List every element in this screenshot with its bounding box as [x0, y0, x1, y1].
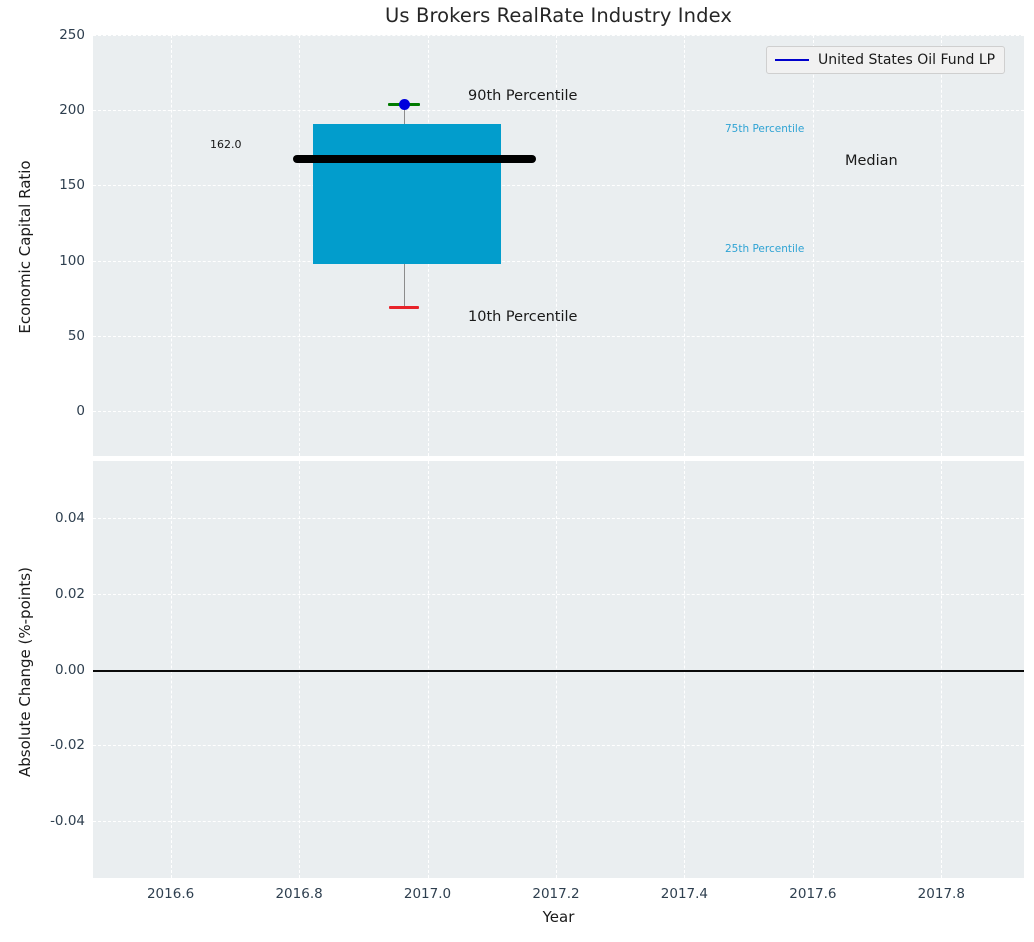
y-tick-labels: 250 200 150 100 50 0 0.04 0.02 0.00 -0.0…: [0, 0, 85, 942]
median-line: [293, 155, 536, 163]
xtick-2017.6: 2017.6: [789, 886, 836, 902]
cap-10th-percentile: [389, 306, 419, 309]
legend-label-0: United States Oil Fund LP: [818, 52, 995, 68]
chart-title: Us Brokers RealRate Industry Index: [93, 4, 1024, 27]
axes-economic-capital-ratio: 162.0 90th Percentile 75th Percentile Me…: [93, 35, 1024, 456]
gridline-y-150: [93, 185, 1024, 186]
figure: Us Brokers RealRate Industry Index 162.0: [0, 0, 1034, 942]
axes-absolute-change: [93, 461, 1024, 878]
gridline-y-100: [93, 261, 1024, 262]
gridline-x-2017.8: [941, 35, 942, 456]
xtick-2017.2: 2017.2: [532, 886, 579, 902]
gridline-x-2016.8: [299, 35, 300, 456]
x-axis-label: Year: [93, 908, 1024, 926]
gridline-y-50: [93, 336, 1024, 337]
annotation-90th-percentile: 90th Percentile: [468, 88, 577, 104]
zero-reference-line: [93, 670, 1024, 672]
gridline-y-250: [93, 35, 1024, 36]
xtick-2017.8: 2017.8: [918, 886, 965, 902]
legend-line-icon: [775, 59, 809, 61]
gridline-y-0: [93, 411, 1024, 412]
annotation-median: Median: [845, 153, 898, 169]
gridline-x-2016.6: [171, 35, 172, 456]
gridline-y-0.02: [93, 594, 1024, 595]
gridline-y-200: [93, 110, 1024, 111]
annotation-10th-percentile: 10th Percentile: [468, 309, 577, 325]
gridline-y-0.04: [93, 518, 1024, 519]
gridline-y--0.02: [93, 745, 1024, 746]
p90-marker-dot: [399, 99, 410, 110]
xtick-2016.6: 2016.6: [147, 886, 194, 902]
box-interquartile-range: [313, 124, 501, 264]
xtick-2017.4: 2017.4: [661, 886, 708, 902]
annotation-75th-percentile: 75th Percentile: [725, 123, 804, 135]
gridline-x-2017.6: [813, 35, 814, 456]
annotation-25th-percentile: 25th Percentile: [725, 243, 804, 255]
gridline-x-2017.4: [684, 35, 685, 456]
xtick-2016.8: 2016.8: [275, 886, 322, 902]
legend[interactable]: United States Oil Fund LP: [766, 46, 1005, 74]
median-value-label: 162.0: [210, 138, 242, 151]
y-axis-label-top: Economic Capital Ratio: [16, 37, 34, 457]
gridline-y--0.04: [93, 821, 1024, 822]
y-axis-label-bottom: Absolute Change (%-points): [16, 462, 34, 882]
xtick-2017.0: 2017.0: [404, 886, 451, 902]
